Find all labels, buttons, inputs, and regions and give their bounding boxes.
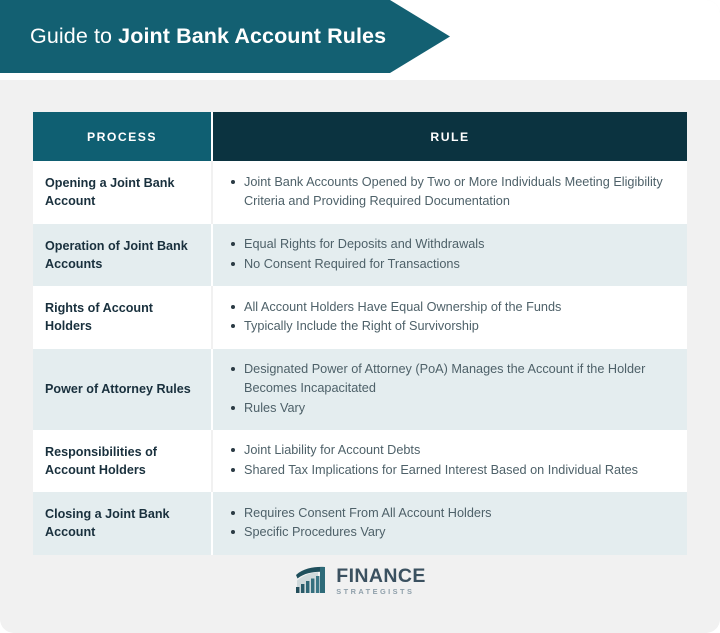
header-banner: Guide to Joint Bank Account Rules xyxy=(0,0,450,73)
logo-secondary-text: STRATEGISTS xyxy=(336,588,425,595)
rule-list-item: Typically Include the Right of Survivors… xyxy=(244,317,561,337)
cell-process: Opening a Joint Bank Account xyxy=(33,161,211,224)
table-row: Power of Attorney RulesDesignated Power … xyxy=(33,349,687,430)
table-row: Opening a Joint Bank AccountJoint Bank A… xyxy=(33,161,687,224)
table-body: Opening a Joint Bank AccountJoint Bank A… xyxy=(33,161,687,555)
rule-list-item: Designated Power of Attorney (PoA) Manag… xyxy=(244,360,675,399)
cell-rule: Joint Bank Accounts Opened by Two or Mor… xyxy=(211,161,687,224)
table-row: Closing a Joint Bank AccountRequires Con… xyxy=(33,492,687,555)
cell-process: Responsibilities of Account Holders xyxy=(33,430,211,493)
footer-logo: FINANCE STRATEGISTS xyxy=(0,566,720,596)
column-header-rule: RULE xyxy=(211,112,687,161)
rule-list: Joint Bank Accounts Opened by Two or Mor… xyxy=(227,173,675,212)
cell-rule: Equal Rights for Deposits and Withdrawal… xyxy=(211,224,687,287)
cell-rule: Requires Consent From All Account Holder… xyxy=(211,492,687,555)
cell-process: Closing a Joint Bank Account xyxy=(33,492,211,555)
rule-list: Equal Rights for Deposits and Withdrawal… xyxy=(227,235,484,274)
column-header-process: PROCESS xyxy=(33,112,211,161)
rule-list-item: No Consent Required for Transactions xyxy=(244,255,484,275)
rule-list-item: All Account Holders Have Equal Ownership… xyxy=(244,298,561,318)
rule-list-item: Equal Rights for Deposits and Withdrawal… xyxy=(244,235,484,255)
rule-list-item: Rules Vary xyxy=(244,399,675,419)
rule-list-item: Specific Procedures Vary xyxy=(244,523,492,543)
table-row: Rights of Account HoldersAll Account Hol… xyxy=(33,286,687,349)
cell-rule: All Account Holders Have Equal Ownership… xyxy=(211,286,687,349)
page-title: Guide to Joint Bank Account Rules xyxy=(0,24,386,49)
table-header-row: PROCESS RULE xyxy=(33,112,687,161)
joint-bank-account-rules-table: PROCESS RULE Opening a Joint Bank Accoun… xyxy=(33,112,687,555)
page-title-light: Guide to xyxy=(30,24,118,48)
rule-list-item: Joint Bank Accounts Opened by Two or Mor… xyxy=(244,173,675,212)
finance-strategists-mark-icon xyxy=(294,566,330,596)
page-title-bold: Joint Bank Account Rules xyxy=(118,24,386,48)
table-row: Operation of Joint Bank AccountsEqual Ri… xyxy=(33,224,687,287)
rule-list-item: Requires Consent From All Account Holder… xyxy=(244,504,492,524)
rule-list: All Account Holders Have Equal Ownership… xyxy=(227,298,561,337)
rule-list: Designated Power of Attorney (PoA) Manag… xyxy=(227,360,675,419)
table-row: Responsibilities of Account HoldersJoint… xyxy=(33,430,687,493)
cell-rule: Designated Power of Attorney (PoA) Manag… xyxy=(211,349,687,430)
rule-list-item: Shared Tax Implications for Earned Inter… xyxy=(244,461,638,481)
rule-list: Joint Liability for Account DebtsShared … xyxy=(227,441,638,480)
rule-list-item: Joint Liability for Account Debts xyxy=(244,441,638,461)
cell-process: Operation of Joint Bank Accounts xyxy=(33,224,211,287)
cell-rule: Joint Liability for Account DebtsShared … xyxy=(211,430,687,493)
logo-primary-text: FINANCE xyxy=(336,567,425,587)
cell-process: Rights of Account Holders xyxy=(33,286,211,349)
rule-list: Requires Consent From All Account Holder… xyxy=(227,504,492,543)
cell-process: Power of Attorney Rules xyxy=(33,349,211,430)
